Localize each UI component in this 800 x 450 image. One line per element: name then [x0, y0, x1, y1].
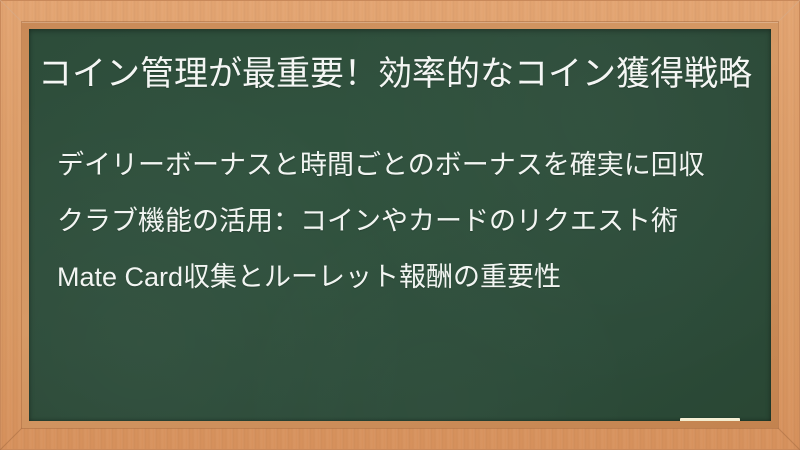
list-item: Mate Card収集とルーレット報酬の重要性 — [57, 259, 757, 296]
bullet-list: デイリーボーナスと時間ごとのボーナスを確実に回収 クラブ機能の活用：コインやカー… — [57, 147, 757, 296]
chalk-stick-icon — [680, 418, 740, 421]
list-item: クラブ機能の活用：コインやカードのリクエスト術 — [57, 203, 757, 240]
chalkboard-surface: コイン管理が最重要！効率的なコイン獲得戦略 デイリーボーナスと時間ごとのボーナス… — [29, 29, 771, 421]
slide-title: コイン管理が最重要！効率的なコイン獲得戦略 — [38, 52, 764, 96]
blackboard-frame: コイン管理が最重要！効率的なコイン獲得戦略 デイリーボーナスと時間ごとのボーナス… — [0, 0, 800, 450]
list-item: デイリーボーナスと時間ごとのボーナスを確実に回収 — [57, 147, 757, 184]
